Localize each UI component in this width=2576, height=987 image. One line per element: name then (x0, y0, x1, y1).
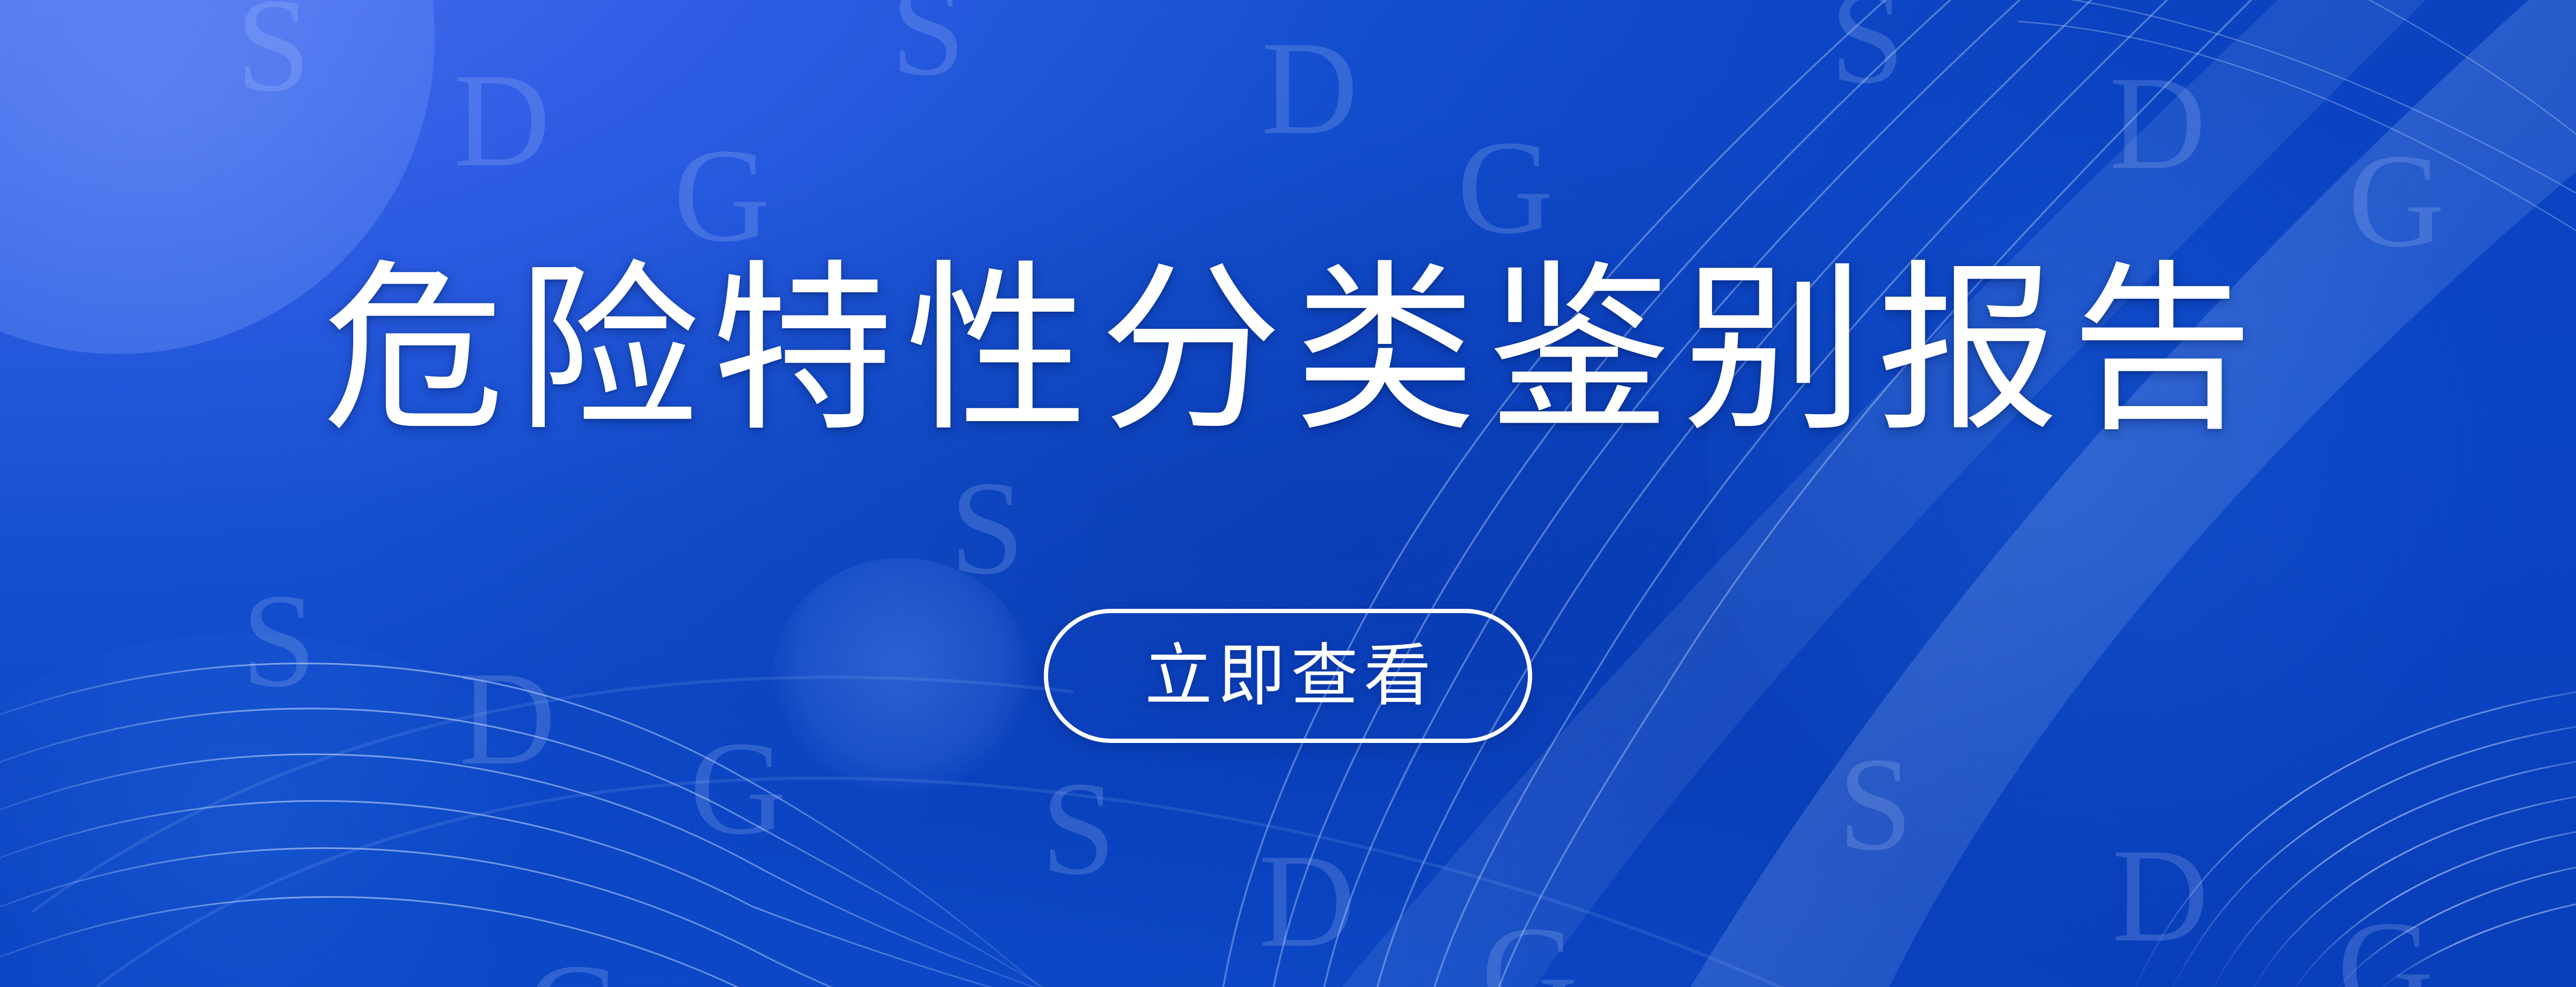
view-now-button[interactable]: 立即查看 (1044, 609, 1532, 743)
banner-title: 危险特性分类鉴别报告 (311, 252, 2265, 449)
banner-content: 危险特性分类鉴别报告 立即查看 (0, 0, 2576, 987)
cta-container: 立即查看 (1044, 609, 1532, 743)
promo-banner: SDGSDGSDGSDGSDGSDGSG 危险特性分类鉴别报告 立即查看 (0, 0, 2576, 987)
